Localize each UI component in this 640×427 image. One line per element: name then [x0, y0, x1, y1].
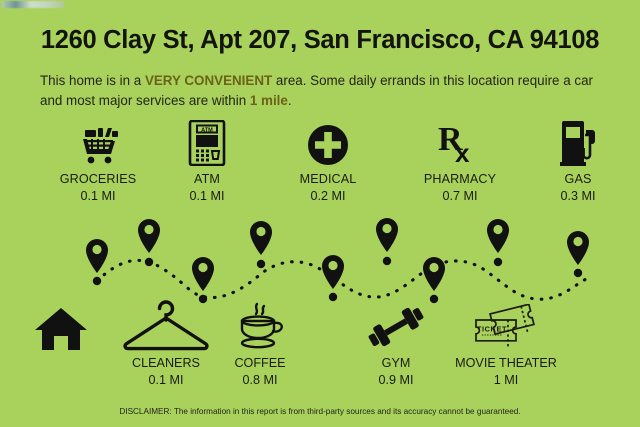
amenity-label: GAS — [518, 172, 638, 186]
map-pin-icon — [86, 239, 108, 285]
movie-tickets-icon: TICKET — [436, 300, 576, 352]
blurb-text-end: . — [288, 93, 292, 108]
amenity-coffee: COFFEE 0.8 MI — [190, 300, 330, 387]
map-pin-icon — [138, 219, 160, 266]
coffee-cup-icon — [190, 300, 330, 352]
page-title: 1260 Clay St, Apt 207, San Francisco, CA… — [0, 26, 640, 55]
amenity-label: GROCERIES — [38, 172, 158, 186]
convenience-description: This home is in a VERY CONVENIENT area. … — [40, 71, 598, 111]
amenity-distance: 0.2 MI — [268, 189, 388, 203]
map-pin-icon — [376, 218, 398, 265]
distance-highlight: 1 mile — [250, 93, 288, 108]
ticket-label-text: TICKET — [477, 325, 507, 334]
amenity-medical: MEDICAL 0.2 MI — [268, 120, 388, 203]
map-pin-icon — [567, 231, 589, 277]
svg-text:x: x — [455, 138, 470, 166]
screen-capture-artifact — [2, 1, 64, 8]
amenity-label: COFFEE — [190, 356, 330, 370]
amenity-label: ATM — [147, 172, 267, 186]
convenience-rating-highlight: VERY CONVENIENT — [145, 73, 272, 88]
medical-cross-icon — [268, 120, 388, 166]
amenities-top-row: GROCERIES 0.1 MI ATM ATM — [0, 120, 640, 215]
gas-pump-icon — [518, 120, 638, 166]
shopping-cart-icon — [38, 120, 158, 166]
amenities-bottom-row: CLEANERS 0.1 MI COFFEE 0.8 MI — [0, 300, 640, 395]
blurb-text-lead: This home is in a — [40, 73, 145, 88]
amenity-distance: 0.3 MI — [518, 189, 638, 203]
map-pin-icon — [322, 255, 344, 301]
amenity-distance: 0.8 MI — [190, 373, 330, 387]
atm-machine-icon: ATM — [147, 120, 267, 166]
amenity-distance: 1 MI — [436, 373, 576, 387]
atm-screen-text: ATM — [201, 127, 213, 133]
amenity-distance: 0.7 MI — [400, 189, 520, 203]
amenity-distance: 0.1 MI — [38, 189, 158, 203]
amenity-groceries: GROCERIES 0.1 MI — [38, 120, 158, 203]
amenity-label: MEDICAL — [268, 172, 388, 186]
amenity-label: PHARMACY — [400, 172, 520, 186]
amenity-label: MOVIE THEATER — [436, 356, 576, 370]
amenity-pharmacy: R x PHARMACY 0.7 MI — [400, 120, 520, 203]
walkability-infographic: 1260 Clay St, Apt 207, San Francisco, CA… — [0, 0, 640, 427]
map-pin-icon — [487, 219, 509, 266]
map-pin-icon — [192, 257, 214, 303]
amenity-distance: 0.1 MI — [147, 189, 267, 203]
rx-prescription-icon: R x — [400, 120, 520, 166]
disclaimer-text: DISCLAIMER: The information in this repo… — [0, 407, 640, 416]
amenity-movie-theater: TICKET MOVIE THEATER 1 MI — [436, 300, 576, 387]
amenity-atm: ATM ATM 0.1 MI — [147, 120, 267, 203]
map-pin-icon — [423, 257, 445, 303]
amenity-gas: GAS 0.3 MI — [518, 120, 638, 203]
map-pin-icon — [250, 221, 272, 268]
